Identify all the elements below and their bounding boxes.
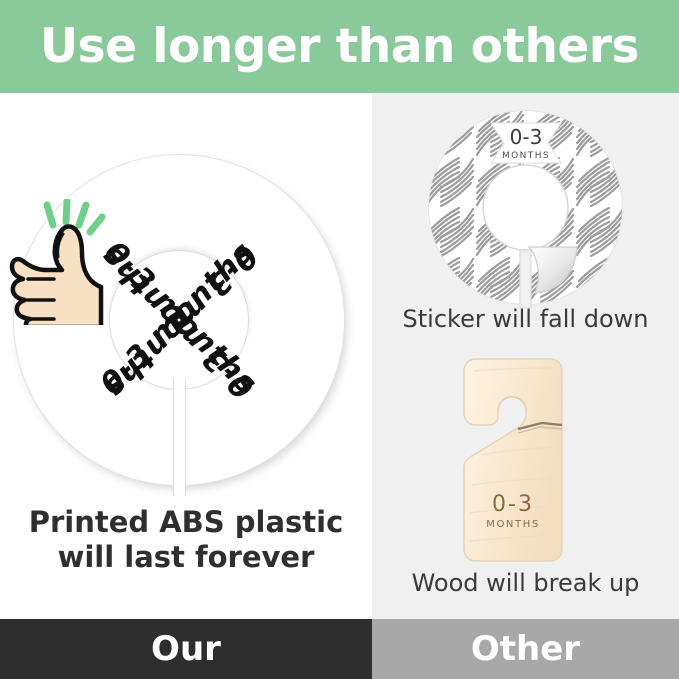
ring-slot-opening [173,378,186,496]
thumbs-up-icon [6,199,116,325]
sticker-size-value: 0-3 [510,125,543,149]
page-title: Use longer than others [40,23,639,70]
sticker-ring-slot [520,250,531,308]
header-banner: Use longer than others [0,0,679,93]
comparison-footer: Our Other [0,619,679,679]
product-comparison-infographic: Use longer than others 0-3 months 0-3 mo… [0,0,679,679]
our-caption-line-1: Printed ABS plastic [0,505,372,540]
other-sticker-caption: Sticker will fall down [372,306,679,332]
wood-hanger-body [464,359,562,561]
sticker-ring-hole [483,165,568,250]
panel-our: 0-3 months 0-3 months 0-3 months 0-3 mon… [0,93,372,619]
footer-other-label: Other [471,632,580,666]
our-caption: Printed ABS plastic will last forever [0,505,372,576]
panel-other: 0-3 MONTHS Sticker will fall down [372,93,679,619]
other-product-sticker-divider: 0-3 MONTHS [425,107,626,308]
wood-size-unit: MONTHS [486,519,540,530]
footer-our-column: Our [0,619,372,679]
other-product-wood-hanger: 0-3 MONTHS [430,355,622,567]
footer-other-column: Other [372,619,679,679]
thumbs-up-hand [12,226,101,325]
wood-size-value: 0-3 [492,492,534,517]
our-caption-line-2: will last forever [0,540,372,575]
ring-center-hole [109,250,249,390]
other-wood-caption: Wood will break up [372,570,679,596]
sticker-size-unit: MONTHS [502,151,550,161]
footer-our-label: Our [151,632,221,666]
comparison-panels: 0-3 months 0-3 months 0-3 months 0-3 mon… [0,93,679,619]
